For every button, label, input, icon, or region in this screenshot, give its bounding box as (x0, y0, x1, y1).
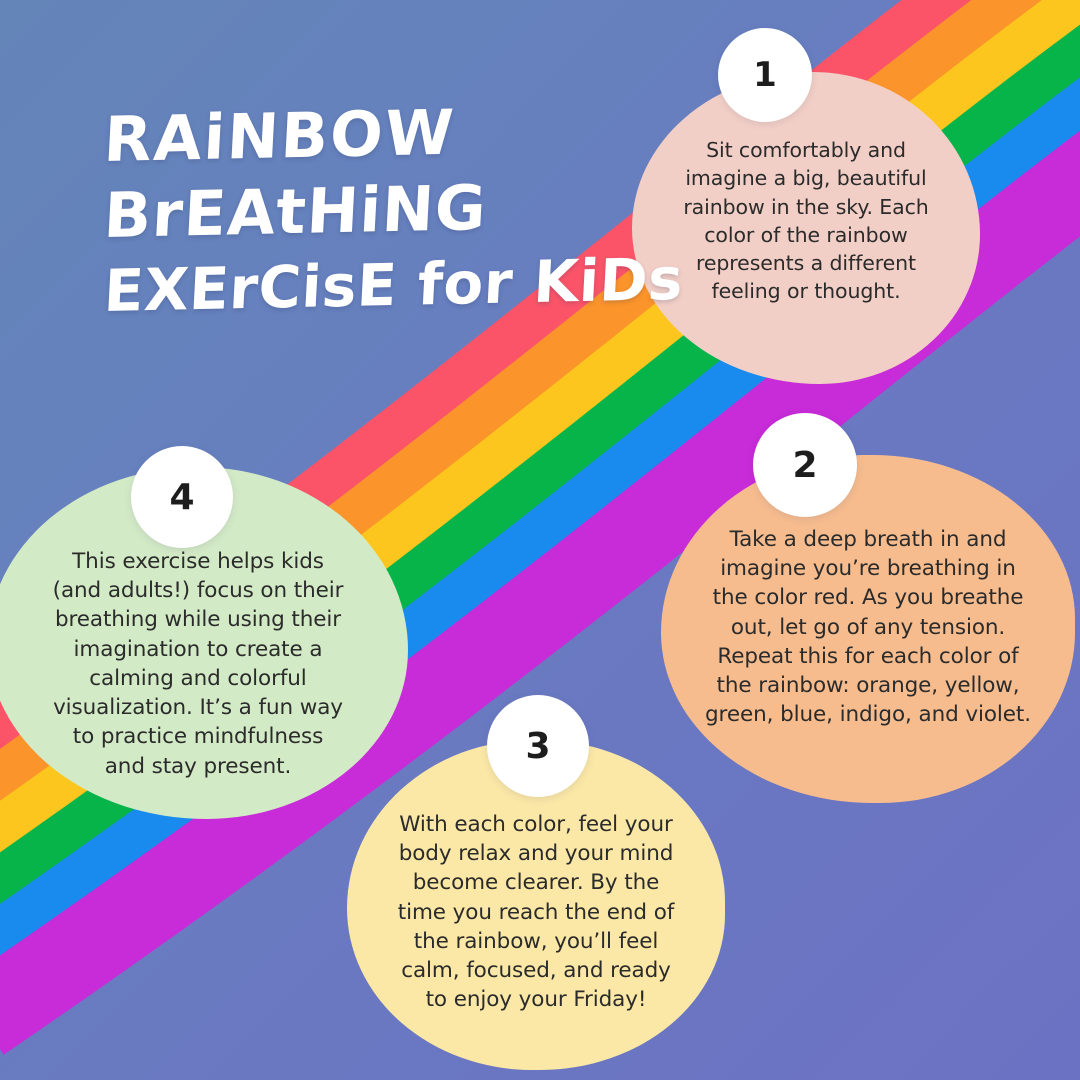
step-4-number: 4 (169, 477, 194, 518)
title-line-3: EXErCisE for KiDs (102, 249, 665, 321)
page-title: RAiNBOW BrEAtHiNG EXErCisE for KiDs (104, 108, 664, 333)
step-bubble-1: Sit comfortably and imagine a big, beaut… (632, 72, 980, 384)
step-number-badge-4: 4 (131, 446, 233, 548)
step-number-badge-1: 1 (718, 28, 812, 122)
step-4-text: This exercise helps kids (and adults!) f… (53, 547, 344, 781)
step-3-text: With each color, feel your body relax an… (398, 810, 674, 1015)
step-2-number: 2 (792, 445, 817, 486)
title-line-1: RAiNBOW (102, 96, 665, 172)
poster-canvas: RAiNBOW BrEAtHiNG EXErCisE for KiDs This… (0, 0, 1080, 1080)
step-1-number: 1 (753, 55, 777, 95)
step-3-number: 3 (525, 726, 550, 767)
step-number-badge-2: 2 (753, 413, 857, 517)
step-number-badge-3: 3 (487, 695, 589, 797)
step-bubble-2: Take a deep breath in and imagine you’re… (661, 455, 1075, 803)
step-2-text: Take a deep breath in and imagine you’re… (705, 525, 1031, 730)
step-1-text: Sit comfortably and imagine a big, beaut… (683, 136, 928, 306)
title-line-2: BrEAtHiNG (102, 173, 665, 249)
